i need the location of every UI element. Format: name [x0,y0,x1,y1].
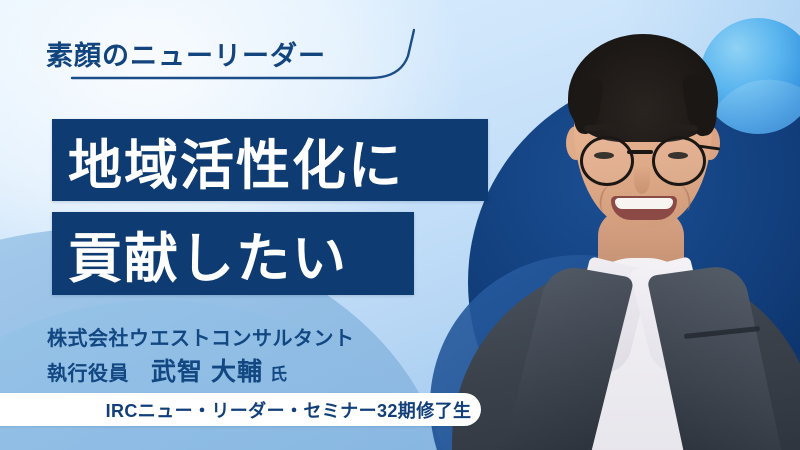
title-line-2: 貢献したい [52,212,414,295]
seminar-badge: IRCニュー・リーダー・セミナー32期修了生 [0,393,481,426]
banner-stage: 素顔のニューリーダー 地域活性化に 貢献したい 株式会社ウエストコンサルタント … [0,0,800,450]
person-name: 武智 大輔 [151,352,263,388]
title-line-1: 地域活性化に [52,119,488,201]
seminar-badge-label: IRCニュー・リーダー・セミナー32期修了生 [10,397,472,423]
person-role: 執行役員 [47,357,129,386]
banner-content: 素顔のニューリーダー 地域活性化に 貢献したい 株式会社ウエストコンサルタント … [0,0,800,450]
organization-name: 株式会社ウエストコンサルタント [47,322,355,351]
kicker-text: 素顔のニューリーダー [46,34,326,73]
person-suffix: 氏 [270,360,288,385]
person-line: 執行役員 武智 大輔 氏 [47,352,287,388]
